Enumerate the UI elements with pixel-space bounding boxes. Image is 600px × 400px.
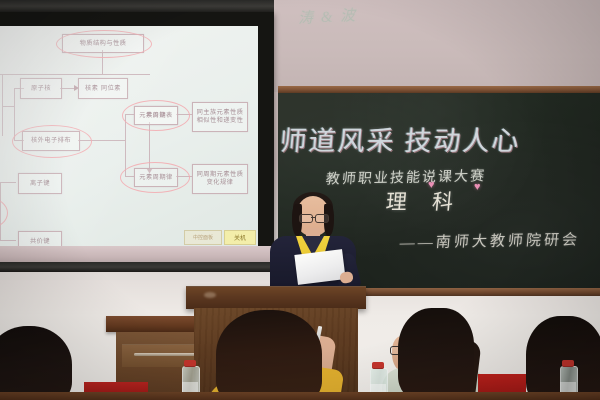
audience-member-center-with-pen: [216, 310, 322, 400]
blackboard-category: 理 科: [385, 186, 465, 216]
diagram-node-nucleus: 原子核: [20, 78, 62, 99]
wood-knot: [204, 292, 216, 298]
diagram-connector: [14, 88, 15, 140]
projection-screen[interactable]: 物质结构与性质 原子核 核素 同位素 核外电子排布 离子键 共价键 共价键 元素…: [0, 26, 258, 258]
bottle-cap: [562, 360, 574, 367]
audience-member-right-with-glasses: [398, 308, 474, 400]
eyeglasses-icon: [299, 214, 313, 223]
bottle-cap: [372, 362, 384, 369]
bottle-label: [560, 382, 576, 392]
blackboard-top-trim: [278, 86, 600, 93]
blackboard-headline: 师道风采 技动人心: [278, 119, 600, 158]
highlight-ellipse: [122, 100, 190, 131]
presenter-paper-sheet: [294, 249, 345, 285]
diagram-connector: [0, 74, 150, 75]
screen-frame: 物质结构与性质 原子核 核素 同位素 核外电子排布 离子键 共价键 共价键 元素…: [0, 12, 274, 264]
heart-icon: ♥: [474, 181, 481, 193]
diagram-node-same-group: 同主族元素性质相似性和递变性: [192, 102, 248, 132]
highlight-ellipse: [0, 198, 8, 228]
diagram-connector: [2, 106, 14, 107]
eyeglasses-bridge: [311, 217, 315, 218]
highlight-ellipse: [56, 30, 152, 58]
screen-rail: [0, 262, 274, 272]
control-panel-button[interactable]: 中控面板: [184, 230, 222, 245]
diagram-connector: [2, 74, 3, 136]
diagram-connector: [60, 88, 74, 89]
bottle-label: [182, 382, 198, 392]
highlight-ellipse: [120, 162, 190, 193]
diagram-connector: [0, 240, 16, 241]
audience-desk-front: [0, 392, 600, 400]
blackboard-attribution: ——南师大教师院研会: [399, 228, 581, 252]
bottle-cap: [184, 360, 196, 367]
classroom-photo: 涛 & 波: [0, 0, 600, 400]
eyeglasses-icon: [315, 214, 329, 223]
shutdown-button[interactable]: 关机: [224, 230, 256, 245]
diagram-node-ionic-bond: 离子键: [18, 173, 62, 194]
diagram-connector: [0, 182, 16, 183]
diagram-node-same-period: 同周期元素性质变化规律: [192, 164, 248, 194]
highlight-ellipse: [12, 125, 92, 158]
diagram-node-isotope: 核素 同位素: [78, 78, 128, 99]
